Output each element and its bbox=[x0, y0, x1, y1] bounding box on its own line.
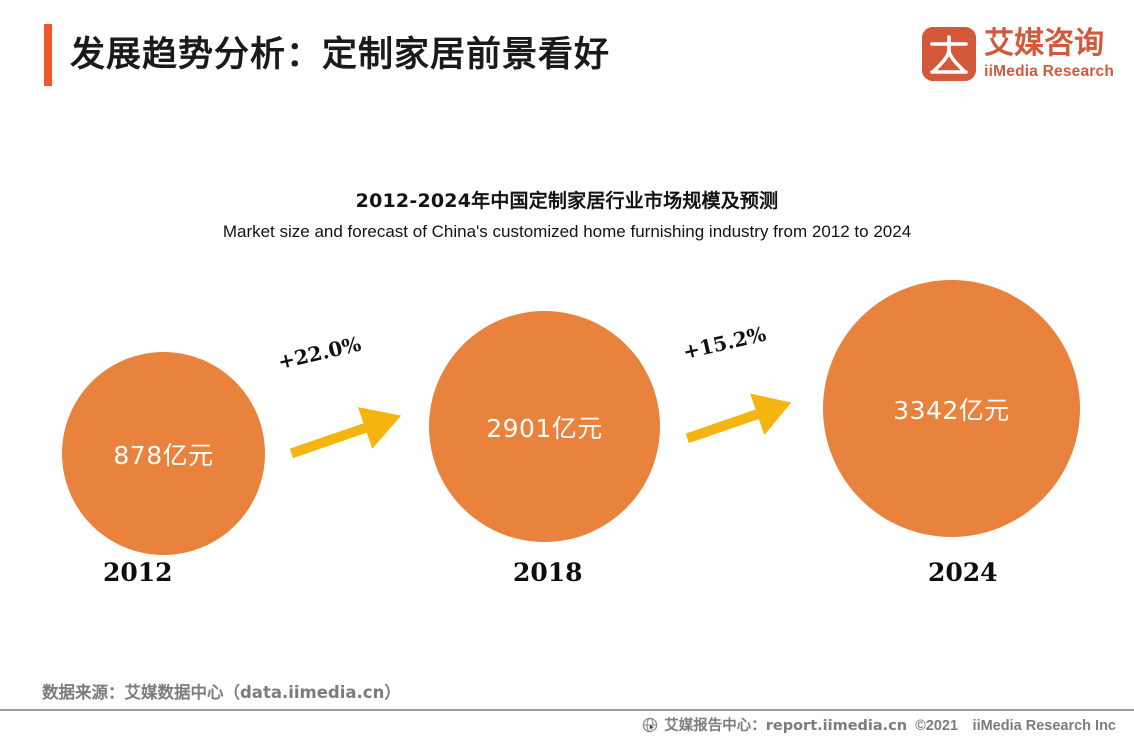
bubble-chart: 878亿元 2901亿元 3342亿元 2012 2018 2024 +2 bbox=[0, 0, 1134, 737]
growth-arrow-1-icon bbox=[281, 380, 406, 470]
bubble-2018: 2901亿元 bbox=[429, 311, 660, 542]
year-label-2024: 2024 bbox=[928, 558, 998, 587]
page-footer: 艾媒报告中心：report.iimedia.cn ©2021 iiMedia R… bbox=[0, 711, 1134, 737]
growth-label-2: +15.2% bbox=[681, 322, 769, 364]
bubble-value-2012: 878亿元 bbox=[113, 436, 213, 472]
growth-label-1: +22.0% bbox=[276, 332, 364, 374]
bubble-2012: 878亿元 bbox=[62, 352, 265, 555]
copyright-text: ©2021 iiMedia Research Inc bbox=[915, 714, 1116, 735]
globe-icon bbox=[642, 717, 658, 733]
report-center-text: 艾媒报告中心：report.iimedia.cn bbox=[664, 714, 907, 735]
year-label-2012: 2012 bbox=[103, 558, 173, 587]
year-label-2018: 2018 bbox=[513, 558, 583, 587]
bubble-2024: 3342亿元 bbox=[823, 280, 1080, 537]
data-source-text: 数据来源：艾媒数据中心（data.iimedia.cn） bbox=[42, 679, 401, 703]
growth-arrow-2-icon bbox=[677, 368, 795, 454]
bubble-value-2018: 2901亿元 bbox=[486, 409, 603, 445]
infographic-page: 发展趋势分析：定制家居前景看好 艾媒咨询 iiMedia Research bbox=[0, 0, 1134, 737]
bubble-value-2024: 3342亿元 bbox=[893, 391, 1010, 427]
